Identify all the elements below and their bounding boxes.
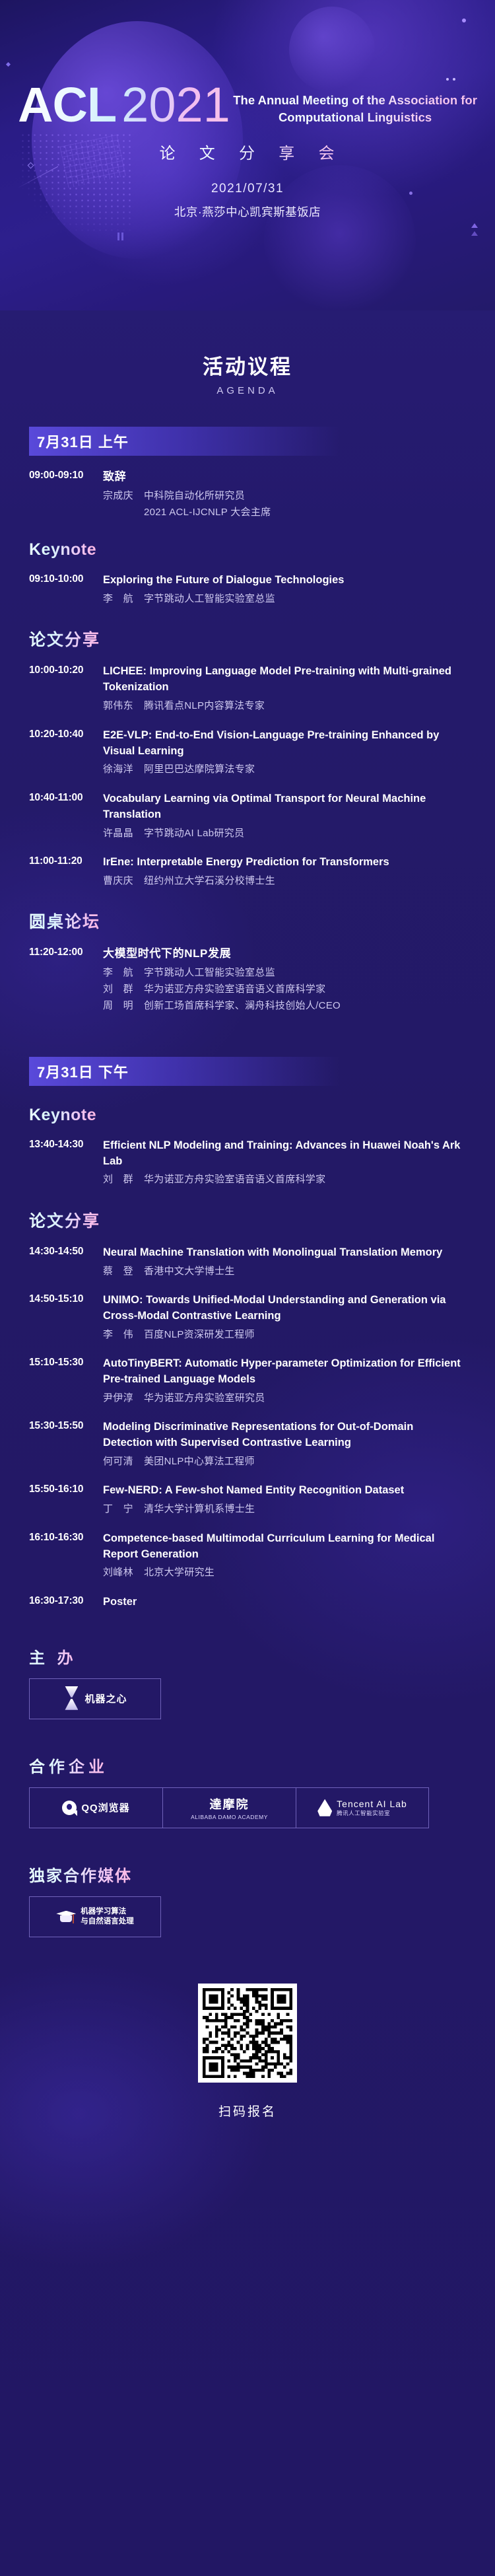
speaker-name: 曹庆庆 (103, 873, 136, 889)
schedule-group-heading-wrap: Keynote (29, 1086, 466, 1125)
speaker-name: 李 伟 (103, 1327, 136, 1343)
schedule-item-body: Exploring the Future of Dialogue Technol… (103, 573, 466, 607)
schedule-item-speaker: 徐海洋阿里巴巴达摩院算法专家 (103, 762, 466, 777)
speaker-name: 李 航 (103, 965, 136, 981)
partner-logo-name: Tencent AI Lab (337, 1799, 407, 1809)
schedule-item-body: Neural Machine Translation with Monoling… (103, 1245, 466, 1279)
media-heading: 独家合作媒体 (29, 1863, 132, 1886)
speaker-name: 李 航 (103, 591, 136, 607)
speaker-name: 尹伊淳 (103, 1390, 136, 1406)
tagline-char-1: 文 (199, 145, 216, 162)
hero-banner: ACL2021 The Annual Meeting of the Associ… (0, 0, 495, 310)
speaker-affiliation: 美团NLP中心算法工程师 (144, 1456, 255, 1467)
schedule-item-speaker: 何可清美团NLP中心算法工程师 (103, 1454, 466, 1470)
schedule-item-time: 15:10-15:30 (29, 1356, 103, 1406)
tencent-ai-lab-icon (317, 1799, 332, 1816)
qq-browser-icon (62, 1801, 77, 1815)
schedule-item-time: 11:20-12:00 (29, 946, 103, 1015)
day-section-bar-afternoon: 7月31日 下午 (29, 1057, 339, 1086)
schedule-group-heading: 圆桌论坛 (29, 909, 100, 933)
subtitle-line-1: The Annual Meeting of the Association fo… (233, 92, 477, 109)
speaker-name: 丁 宁 (103, 1501, 136, 1517)
schedule-item-body: Few-NERD: A Few-shot Named Entity Recogn… (103, 1483, 466, 1517)
schedule-item-title: 致辞 (103, 469, 466, 485)
schedule-item-body: UNIMO: Towards Unified-Modal Understandi… (103, 1293, 466, 1343)
speaker-name: 郭伟东 (103, 698, 136, 714)
schedule-item: 15:30-15:50Modeling Discriminative Repre… (29, 1419, 466, 1470)
schedule-group-heading: 论文分享 (29, 1208, 100, 1232)
schedule-item: 11:00-11:20IrEne: Interpretable Energy P… (29, 855, 466, 889)
graduation-cap-icon (56, 1909, 76, 1925)
speaker-affiliation: 字节跳动AI Lab研究员 (144, 828, 244, 839)
schedule-item-title: Neural Machine Translation with Monoling… (103, 1245, 466, 1261)
schedule-item: 16:30-17:30Poster (29, 1594, 466, 1610)
event-venue: 北京·燕莎中心凯宾斯基饭店 (0, 203, 495, 220)
tagline-char-0: 论 (160, 145, 177, 162)
schedule-item-time: 10:20-10:40 (29, 728, 103, 778)
schedule-item-title: UNIMO: Towards Unified-Modal Understandi… (103, 1293, 466, 1324)
event-date: 2021/07/31 (0, 182, 495, 196)
decorative-triangle-icon (471, 223, 478, 228)
schedule-item-time: 09:10-10:00 (29, 573, 103, 607)
schedule-item-speaker: 尹伊淳华为诺亚方舟实验室研究员 (103, 1390, 466, 1406)
schedule-item-body: 大模型时代下的NLP发展李 航字节跳动人工智能实验室总监刘 群华为诺亚方舟实验室… (103, 946, 466, 1015)
schedule-item-speaker: 许晶晶字节跳动AI Lab研究员 (103, 826, 466, 841)
agenda-title-block: 活动议程 AGENDA (0, 310, 495, 396)
speaker-name: 宗成庆 (103, 488, 136, 504)
schedule-item-title: IrEne: Interpretable Energy Prediction f… (103, 855, 466, 871)
speaker-affiliation: 百度NLP资深研发工程师 (144, 1329, 255, 1340)
day-section-label: 7月31日 上午 (37, 431, 129, 452)
schedule-item-time: 15:50-16:10 (29, 1483, 103, 1517)
tagline-divider: | (185, 145, 191, 162)
tagline-char-4: 会 (318, 145, 335, 162)
schedule-item-time: 14:50-15:10 (29, 1293, 103, 1343)
schedule-group-heading-wrap: 论文分享 (29, 607, 466, 651)
schedule-group-heading-wrap: Keynote (29, 520, 466, 559)
schedule-item: 16:10-16:30Competence-based Multimodal C… (29, 1531, 466, 1581)
qr-block: 扫码报名 (29, 1984, 466, 2120)
schedule-group-heading: 论文分享 (29, 627, 100, 651)
schedule-item: 10:20-10:40E2E-VLP: End-to-End Vision-La… (29, 728, 466, 778)
schedule-root: 7月31日 上午09:00-09:10致辞宗成庆中科院自动化所研究员2021 A… (29, 427, 466, 1610)
schedule-item-time: 10:40-11:00 (29, 791, 103, 841)
chinese-tagline: |论|文|分|享|会| (137, 140, 358, 163)
speaker-affiliation: 腾讯看点NLP内容算法专家 (144, 700, 265, 711)
schedule-item-title: Vocabulary Learning via Optimal Transpor… (103, 791, 466, 823)
schedule-group-heading-wrap: 论文分享 (29, 1188, 466, 1232)
media-logo-line-2: 与自然语言处理 (81, 1917, 134, 1927)
schedule-item-body: Poster (103, 1594, 466, 1610)
poster-page: ACL2021 The Annual Meeting of the Associ… (0, 0, 495, 2576)
section-spacer (29, 1015, 466, 1026)
schedule-item: 15:10-15:30AutoTinyBERT: Automatic Hyper… (29, 1356, 466, 1406)
schedule-item-speaker: 周 明创新工场首席科学家、澜舟科技创始人/CEO (103, 998, 466, 1014)
schedule-item-title: Poster (103, 1594, 466, 1610)
tagline-char-3: 享 (279, 145, 296, 162)
media-logo-ml-nlp[interactable]: 机器学习算法 与自然语言处理 (29, 1896, 161, 1937)
host-logo-synced[interactable]: 机器之心 (29, 1678, 161, 1719)
partner-logo-tencent-ai-lab[interactable]: Tencent AI Lab 腾讯人工智能实验室 (296, 1787, 429, 1828)
schedule-item-time: 10:00-10:20 (29, 664, 103, 714)
schedule-item: 14:30-14:50Neural Machine Translation wi… (29, 1245, 466, 1279)
schedule-item: 15:50-16:10Few-NERD: A Few-shot Named En… (29, 1483, 466, 1517)
acl-logo: ACL2021 (18, 82, 230, 128)
schedule-item-body: Vocabulary Learning via Optimal Transpor… (103, 791, 466, 841)
schedule-item-speaker: 李 航字节跳动人工智能实验室总监 (103, 965, 466, 981)
schedule-item-body: Modeling Discriminative Representations … (103, 1419, 466, 1470)
speaker-name: 何可清 (103, 1454, 136, 1470)
qr-caption: 扫码报名 (29, 2102, 466, 2120)
schedule-item-speaker: 李 航字节跳动人工智能实验室总监 (103, 591, 466, 607)
schedule-item-speaker: 刘峰林北京大学研究生 (103, 1565, 466, 1581)
schedule-item-speaker: 郭伟东腾讯看点NLP内容算法专家 (103, 698, 466, 714)
partner-logo-name: QQ浏览器 (81, 1801, 129, 1814)
schedule-item: 14:50-15:10UNIMO: Towards Unified-Modal … (29, 1293, 466, 1343)
speaker-name: 蔡 登 (103, 1264, 136, 1279)
speaker-affiliation: 中科院自动化所研究员 (144, 490, 245, 501)
day-section-bar-morning: 7月31日 上午 (29, 427, 339, 456)
speaker-name: 刘 群 (103, 982, 136, 997)
speaker-affiliation: 华为诺亚方舟实验室语音语义首席科学家 (144, 984, 325, 995)
speaker-affiliation: 香港中文大学博士生 (144, 1266, 235, 1277)
schedule-item-speaker: 刘 群华为诺亚方舟实验室语音语义首席科学家 (103, 1172, 466, 1188)
speaker-affiliation: 字节跳动人工智能实验室总监 (144, 967, 275, 978)
schedule-item-time: 15:30-15:50 (29, 1419, 103, 1470)
schedule-item-title: Efficient NLP Modeling and Training: Adv… (103, 1138, 466, 1170)
tagline-char-2: 分 (239, 145, 256, 162)
speaker-affiliation: 字节跳动人工智能实验室总监 (144, 593, 275, 604)
schedule-item-time: 16:30-17:30 (29, 1594, 103, 1610)
decorative-triangle-icon (471, 231, 478, 236)
tagline-divider: | (145, 145, 150, 162)
schedule-item-title: Competence-based Multimodal Curriculum L… (103, 1531, 466, 1563)
partner-logo-row: QQ浏览器 達摩院 ALIBABA DAMO ACADEMY Tencent A… (29, 1787, 466, 1828)
speaker-name: 刘峰林 (103, 1565, 136, 1581)
partner-logo-sub: 腾讯人工智能实验室 (337, 1809, 407, 1817)
schedule-item-body: LICHEE: Improving Language Model Pre-tra… (103, 664, 466, 714)
partner-logo-damo-academy[interactable]: 達摩院 ALIBABA DAMO ACADEMY (162, 1787, 296, 1828)
agenda-title-en: AGENDA (0, 385, 495, 396)
day-section-label: 7月31日 下午 (37, 1061, 129, 1082)
host-logo-name: 机器之心 (84, 1692, 127, 1705)
speaker-affiliation: 2021 ACL-IJCNLP 大会主席 (144, 507, 271, 518)
schedule-item-body: E2E-VLP: End-to-End Vision-Language Pre-… (103, 728, 466, 778)
schedule-item-title: 大模型时代下的NLP发展 (103, 946, 466, 962)
subtitle-line-2: Computational Linguistics (233, 109, 477, 126)
schedule-item-body: 致辞宗成庆中科院自动化所研究员2021 ACL-IJCNLP 大会主席 (103, 469, 466, 520)
logo-year-text: 2021 (121, 77, 230, 132)
schedule-item-body: IrEne: Interpretable Energy Prediction f… (103, 855, 466, 889)
schedule-item-title: Exploring the Future of Dialogue Technol… (103, 573, 466, 589)
host-heading: 主 办 (29, 1645, 77, 1668)
speaker-affiliation: 纽约州立大学石溪分校博士生 (144, 875, 275, 886)
logo-acl-text: ACL (18, 77, 116, 132)
conference-subtitle: The Annual Meeting of the Association fo… (233, 92, 477, 127)
schedule-item-title: Few-NERD: A Few-shot Named Entity Recogn… (103, 1483, 466, 1499)
schedule-item-speaker: 蔡 登香港中文大学博士生 (103, 1264, 466, 1279)
schedule-item-time: 11:00-11:20 (29, 855, 103, 889)
schedule-group-heading: Keynote (29, 540, 96, 559)
schedule-item-body: Efficient NLP Modeling and Training: Adv… (103, 1138, 466, 1188)
schedule-item: 11:20-12:00大模型时代下的NLP发展李 航字节跳动人工智能实验室总监刘… (29, 946, 466, 1015)
partner-logo-qq-browser[interactable]: QQ浏览器 (29, 1787, 162, 1828)
media-logo-line-1: 机器学习算法 (81, 1907, 134, 1917)
schedule-item-title: Modeling Discriminative Representations … (103, 1419, 466, 1451)
agenda-title-cn: 活动议程 (0, 350, 495, 380)
schedule-item-time: 09:00-09:10 (29, 469, 103, 520)
schedule-item: 09:00-09:10致辞宗成庆中科院自动化所研究员2021 ACL-IJCNL… (29, 469, 466, 520)
speaker-name: 周 明 (103, 998, 136, 1014)
speaker-affiliation: 北京大学研究生 (144, 1567, 214, 1578)
speaker-affiliation: 阿里巴巴达摩院算法专家 (144, 764, 255, 775)
speaker-affiliation: 清华大学计算机系博士生 (144, 1503, 255, 1515)
schedule-item-body: AutoTinyBERT: Automatic Hyper-parameter … (103, 1356, 466, 1406)
schedule-item-title: AutoTinyBERT: Automatic Hyper-parameter … (103, 1356, 466, 1388)
tagline-divider: | (344, 145, 349, 162)
schedule-item-speaker: 曹庆庆纽约州立大学石溪分校博士生 (103, 873, 466, 889)
hourglass-icon (63, 1686, 80, 1711)
schedule-item-body: Competence-based Multimodal Curriculum L… (103, 1531, 466, 1581)
schedule-item: 10:40-11:00Vocabulary Learning via Optim… (29, 791, 466, 841)
decorative-bar-icon (121, 233, 123, 240)
qr-code-image (203, 1988, 292, 2078)
tagline-divider: | (304, 145, 310, 162)
schedule-item-time: 14:30-14:50 (29, 1245, 103, 1279)
schedule-item-time: 13:40-14:30 (29, 1138, 103, 1188)
speaker-affiliation: 创新工场首席科学家、澜舟科技创始人/CEO (144, 1000, 341, 1011)
schedule-item-speaker: 李 伟百度NLP资深研发工程师 (103, 1327, 466, 1343)
schedule-group-heading: Keynote (29, 1106, 96, 1125)
schedule-item-title: E2E-VLP: End-to-End Vision-Language Pre-… (103, 728, 466, 760)
speaker-name: 徐海洋 (103, 762, 136, 777)
registration-qr-code[interactable] (198, 1984, 297, 2083)
schedule-item-time: 16:10-16:30 (29, 1531, 103, 1581)
schedule-item: 09:10-10:00Exploring the Future of Dialo… (29, 573, 466, 607)
tagline-divider: | (225, 145, 230, 162)
decorative-bar-icon (117, 233, 119, 240)
speaker-affiliation: 华为诺亚方舟实验室语音语义首席科学家 (144, 1174, 325, 1185)
speaker-name: 许晶晶 (103, 826, 136, 841)
schedule-item: 10:00-10:20LICHEE: Improving Language Mo… (29, 664, 466, 714)
speaker-affiliation: 华为诺亚方舟实验室研究员 (144, 1392, 265, 1404)
partner-logo-name: 達摩院 (191, 1795, 268, 1812)
schedule-item-speaker: 宗成庆中科院自动化所研究员 (103, 488, 466, 504)
schedule-group-heading-wrap: 圆桌论坛 (29, 889, 466, 933)
schedule-item-title: LICHEE: Improving Language Model Pre-tra… (103, 664, 466, 696)
schedule-item: 13:40-14:30Efficient NLP Modeling and Tr… (29, 1138, 466, 1188)
host-logo-row: 机器之心 (29, 1678, 466, 1719)
schedule-item-speaker: 丁 宁清华大学计算机系博士生 (103, 1501, 466, 1517)
partner-logo-sub: ALIBABA DAMO ACADEMY (191, 1814, 268, 1820)
schedule-item-speaker: 2021 ACL-IJCNLP 大会主席 (103, 505, 466, 520)
schedule-item-speaker: 刘 群华为诺亚方舟实验室语音语义首席科学家 (103, 982, 466, 997)
speaker-name: 刘 群 (103, 1172, 136, 1188)
tagline-divider: | (265, 145, 270, 162)
partner-heading: 合作企业 (29, 1754, 108, 1777)
media-logo-row: 机器学习算法 与自然语言处理 (29, 1896, 466, 1937)
